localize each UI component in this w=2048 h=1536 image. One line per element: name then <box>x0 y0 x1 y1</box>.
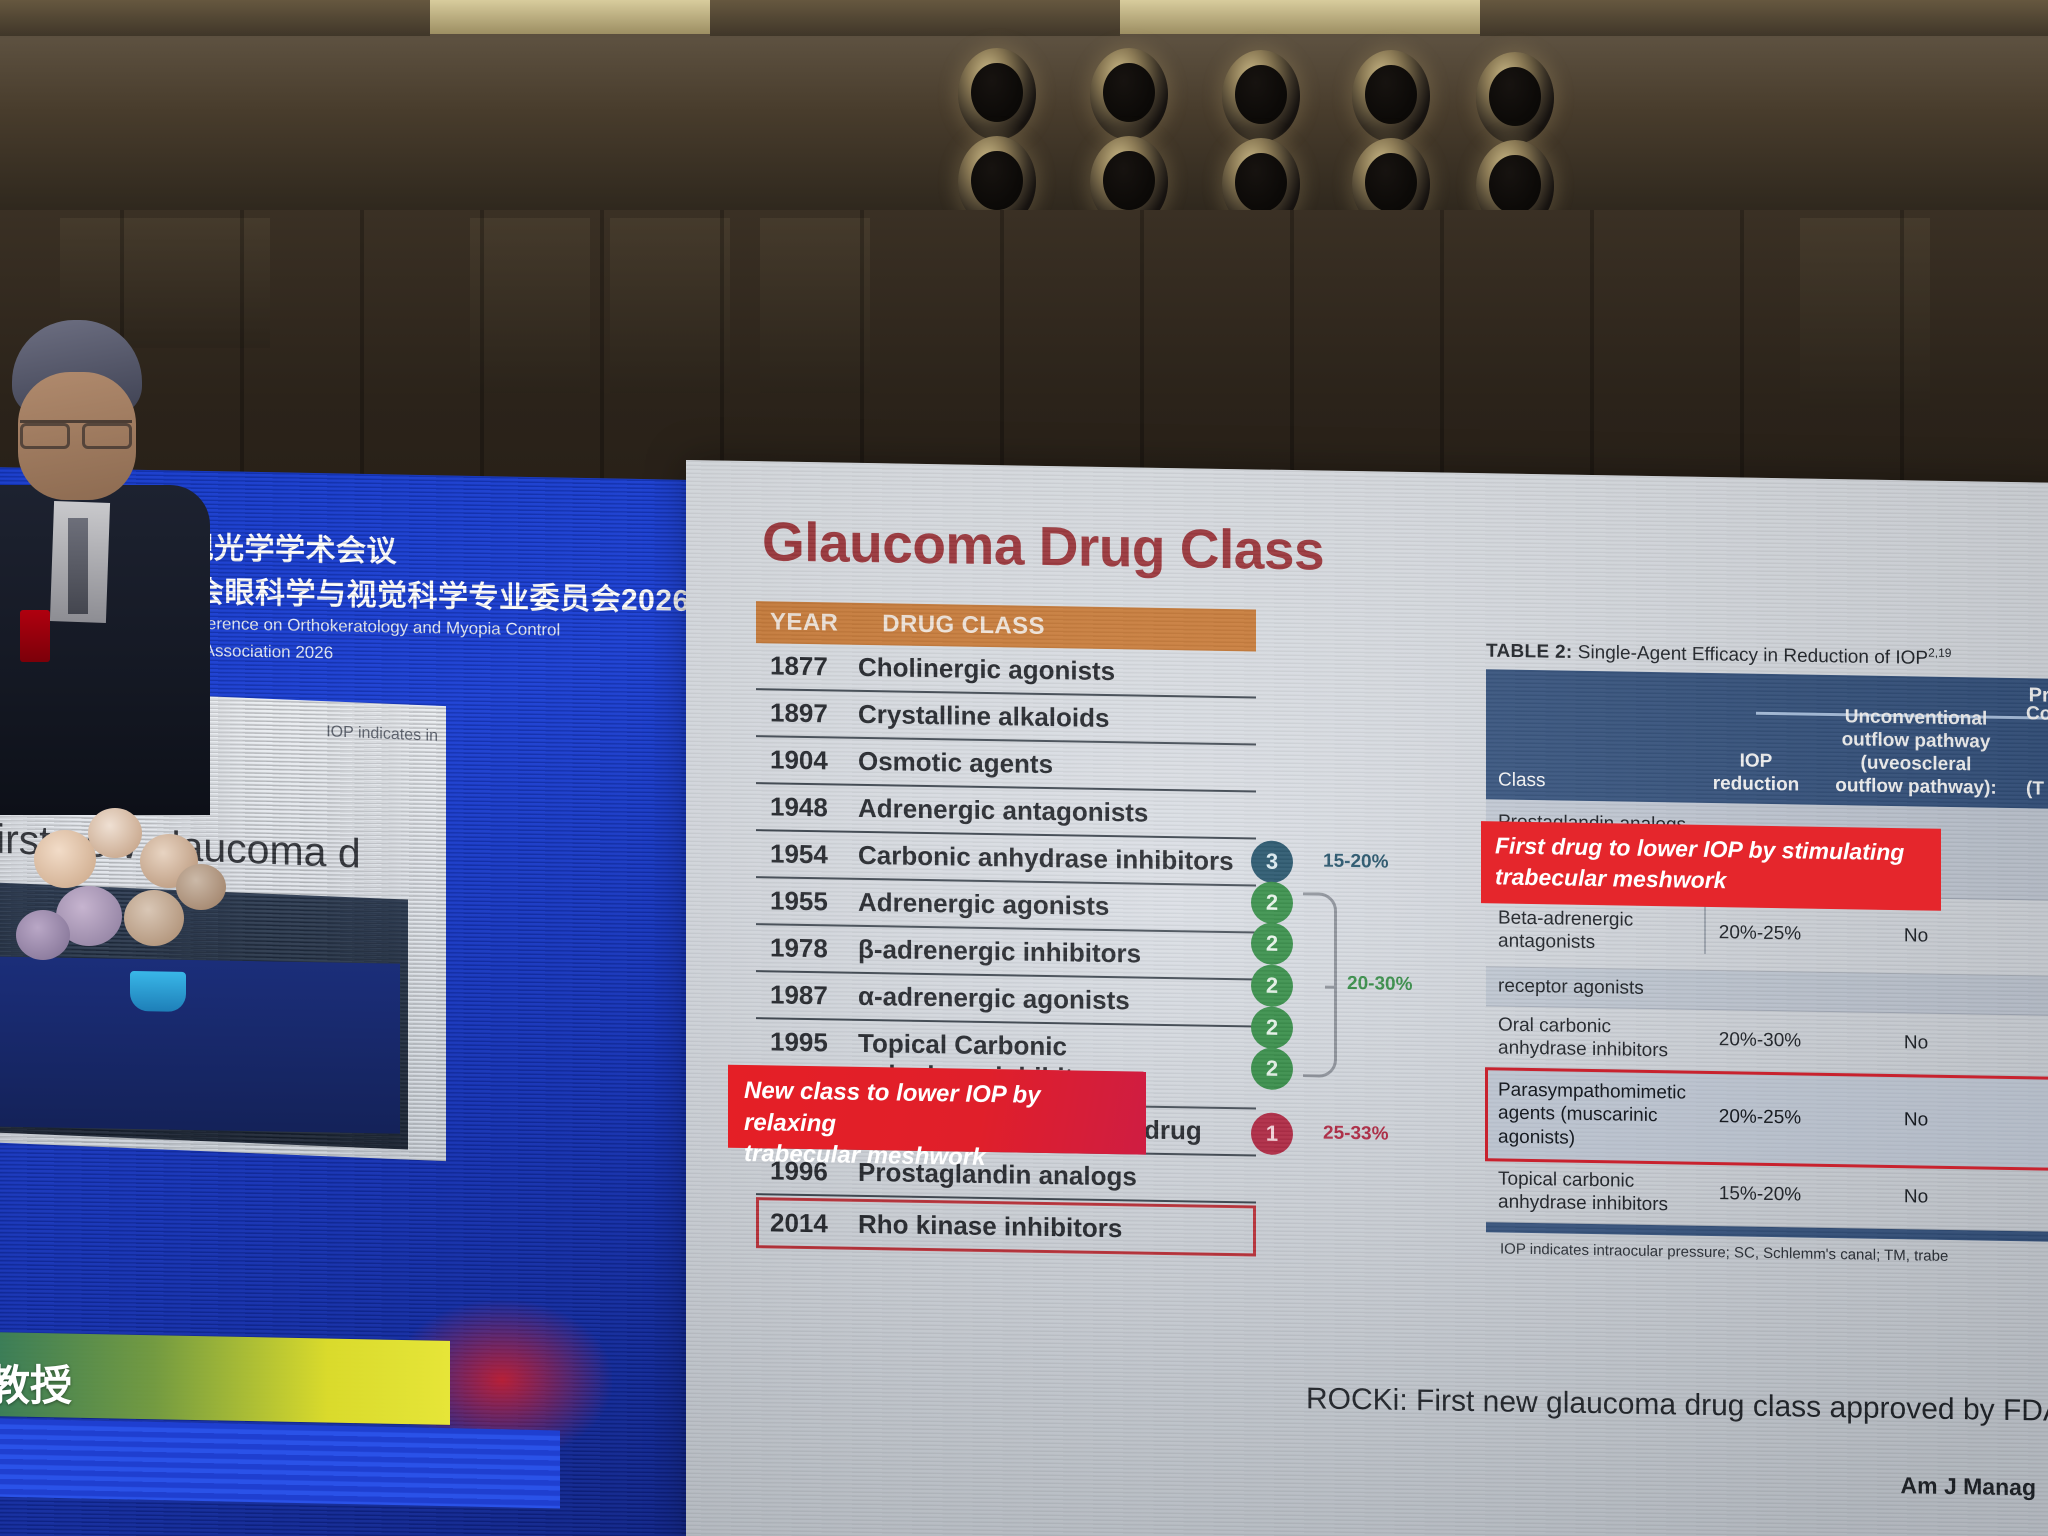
row-year: 1955 <box>770 885 858 917</box>
table-row[interactable]: 1987 α-adrenergic agonists <box>756 972 1256 1027</box>
table-2-caption-text: Single-Agent Efficacy in Reduction of IO… <box>1573 642 1929 669</box>
table-2-header-unconventional: Unconventional outflow pathway (uveoscle… <box>1816 704 2016 800</box>
row-year: 1954 <box>770 838 858 870</box>
status-badge: 2 <box>1251 1047 1293 1090</box>
header-con-line2: (T <box>2026 777 2048 802</box>
row-class: Topical carbonic anhydrase inhibitors <box>1486 1160 1704 1224</box>
table-row[interactable]: Topical carbonic anhydrase inhibitors 15… <box>1486 1160 2048 1232</box>
timeline-header-year: YEAR <box>770 608 838 637</box>
row-iop-reduction: 20%-30% <box>1704 1029 1816 1053</box>
table-row[interactable]: 1904 Osmotic agents <box>756 737 1256 792</box>
table-row-highlighted[interactable]: 2014 Rho kinase inhibitors <box>756 1197 1256 1256</box>
page-title: Glaucoma Drug Class <box>762 509 1324 582</box>
row-unconventional: No <box>1816 1185 2016 1210</box>
row-conventional <box>2016 938 2048 939</box>
downlight-icon <box>1476 140 1554 215</box>
row-iop-reduction <box>1704 990 1816 992</box>
status-badge: 3 <box>1251 840 1293 883</box>
downlight-icon <box>1222 138 1300 215</box>
callout-left-line-1: New class to lower IOP by relaxing <box>744 1075 1130 1145</box>
percent-label-tier3: 15-20% <box>1323 851 1389 874</box>
callout-first-drug: First drug to lower IOP by stimulating t… <box>1481 821 1941 911</box>
table-2-caption-superscript: 2,19 <box>1928 646 1951 660</box>
row-conventional <box>2016 1199 2048 1200</box>
row-year: 1987 <box>770 979 858 1011</box>
downlight-icon <box>1090 136 1168 215</box>
downlight-icon <box>1352 138 1430 215</box>
row-iop-reduction: 20%-25% <box>1704 922 1816 946</box>
glasses-icon <box>20 420 132 442</box>
row-drug-class: Cholinergic agonists <box>858 652 1115 687</box>
row-drug-class: Rho kinase inhibitors <box>858 1209 1122 1244</box>
row-drug-class: β-adrenergic inhibitors <box>858 934 1141 969</box>
timeline-header-drug-class: DRUG CLASS <box>882 610 1045 641</box>
status-badge: 2 <box>1251 964 1293 1007</box>
table-2-header-class: Class <box>1498 770 1546 793</box>
downlight-icon <box>958 136 1036 215</box>
table-row-highlighted[interactable]: Parasympathomimetic agents (muscarinic a… <box>1486 1068 2048 1170</box>
table-2-caption-label: TABLE 2: <box>1486 641 1573 663</box>
stage-front-panel <box>0 1418 560 1509</box>
row-year: 1897 <box>770 697 858 729</box>
percent-label-tier2: 20-30% <box>1347 973 1413 996</box>
table-2-header: Primar Class IOP reduction Unconventiona… <box>1486 670 2048 810</box>
row-year: 1904 <box>770 744 858 776</box>
table-row[interactable]: 1978 β-adrenergic inhibitors <box>756 925 1256 980</box>
row-unconventional: No <box>1816 1108 2016 1133</box>
projected-slide: Glaucoma Drug Class YEAR DRUG CLASS 1877… <box>686 460 2048 1536</box>
row-drug-class: Carbonic anhydrase inhibitors <box>858 840 1234 877</box>
efficacy-badge-column: 3 15-20% 2 2 2 2 2 20-30% 1 25-33% <box>1251 609 1481 1133</box>
status-badge: 2 <box>1251 1006 1293 1049</box>
row-drug-class: Adrenergic antagonists <box>858 793 1148 828</box>
percent-label-tier1: 25-33% <box>1323 1123 1389 1146</box>
downlight-icon <box>1476 52 1554 144</box>
table-2-header-iop: IOP reduction <box>1708 749 1804 797</box>
row-iop-reduction: 20%-25% <box>1704 1106 1816 1130</box>
rocki-summary-line: ROCKi: First new glaucoma drug class app… <box>1306 1382 2048 1429</box>
header-unc-line2: outflow pathway <box>1816 728 2016 754</box>
row-iop-reduction: 15%-20% <box>1704 1183 1816 1207</box>
row-year: 2014 <box>770 1207 858 1239</box>
row-drug-class: Osmotic agents <box>858 746 1053 780</box>
status-badge: 2 <box>1251 881 1293 924</box>
header-unc-line1: Unconventional <box>1816 704 2016 730</box>
table-row[interactable]: Oral carbonic anhydrase inhibitors 20%-3… <box>1486 1006 2048 1078</box>
header-con-line1: Co <box>2026 702 2048 727</box>
header-unc-line4: outflow pathway): <box>1816 774 2016 800</box>
ceiling <box>0 0 2048 215</box>
lanyard-badge <box>20 610 50 662</box>
row-unconventional: No <box>1816 1031 2016 1056</box>
row-class: Beta-adrenergic antagonists <box>1486 899 1704 963</box>
row-class: receptor agonists <box>1486 968 1704 1009</box>
callout-new-class: New class to lower IOP by relaxing trabe… <box>728 1065 1146 1155</box>
row-conventional <box>2016 1045 2048 1046</box>
row-year: 1877 <box>770 650 858 682</box>
table-2-panel: TABLE 2: Single-Agent Efficacy in Reduct… <box>1486 638 2048 1267</box>
table-row[interactable]: 1948 Adrenergic antagonists <box>756 784 1256 839</box>
table-row[interactable]: 1955 Adrenergic agonists <box>756 878 1256 933</box>
row-conventional <box>2016 854 2048 855</box>
row-conventional <box>2016 995 2048 996</box>
row-unconventional: No <box>1816 924 2016 949</box>
table-2-caption: TABLE 2: Single-Agent Efficacy in Reduct… <box>1486 638 2048 673</box>
grouping-brace <box>1303 892 1337 1078</box>
row-drug-class: Adrenergic agonists <box>858 887 1109 922</box>
row-class: Oral carbonic anhydrase inhibitors <box>1486 1006 1704 1070</box>
table-2-header-conventional: Co (T <box>2026 702 2048 802</box>
row-unconventional <box>1816 992 2016 995</box>
row-year: 1995 <box>770 1026 858 1058</box>
row-year: 1978 <box>770 932 858 964</box>
row-drug-class: Crystalline alkaloids <box>858 699 1109 734</box>
downlight-icon <box>1090 48 1168 140</box>
header-iop-line1: IOP <box>1708 749 1804 774</box>
row-conventional <box>2016 1122 2048 1123</box>
row-class: Parasympathomimetic agents (muscarinic a… <box>1486 1072 1704 1159</box>
table-row[interactable]: 1897 Crystalline alkaloids <box>756 690 1256 745</box>
callout-left-line-2: trabecular meshwork <box>744 1138 1130 1176</box>
speaker-name-label: 教授 <box>0 1352 72 1413</box>
status-badge: 1 <box>1251 1112 1293 1155</box>
downlight-icon <box>1222 50 1300 142</box>
row-drug-class: α-adrenergic agonists <box>858 981 1130 1016</box>
row-year: 1948 <box>770 791 858 823</box>
table-row[interactable]: 1877 Cholinergic agonists <box>756 643 1256 698</box>
header-iop-line2: reduction <box>1708 772 1804 797</box>
status-badge: 2 <box>1251 922 1293 965</box>
source-citation: Am J Manag <box>1901 1472 2036 1501</box>
table-row[interactable]: 1954 Carbonic anhydrase inhibitors <box>756 831 1256 886</box>
downlight-icon <box>1352 50 1430 142</box>
downlight-icon <box>958 48 1036 140</box>
header-unc-line3: (uveoscleral <box>1816 751 2016 777</box>
flower-arrangement <box>16 790 316 1000</box>
screenshot-root: 第二十六届国际视光学学术会议 中国研究型医院学会眼科学与视觉科学专业委员会202… <box>0 0 2048 1536</box>
